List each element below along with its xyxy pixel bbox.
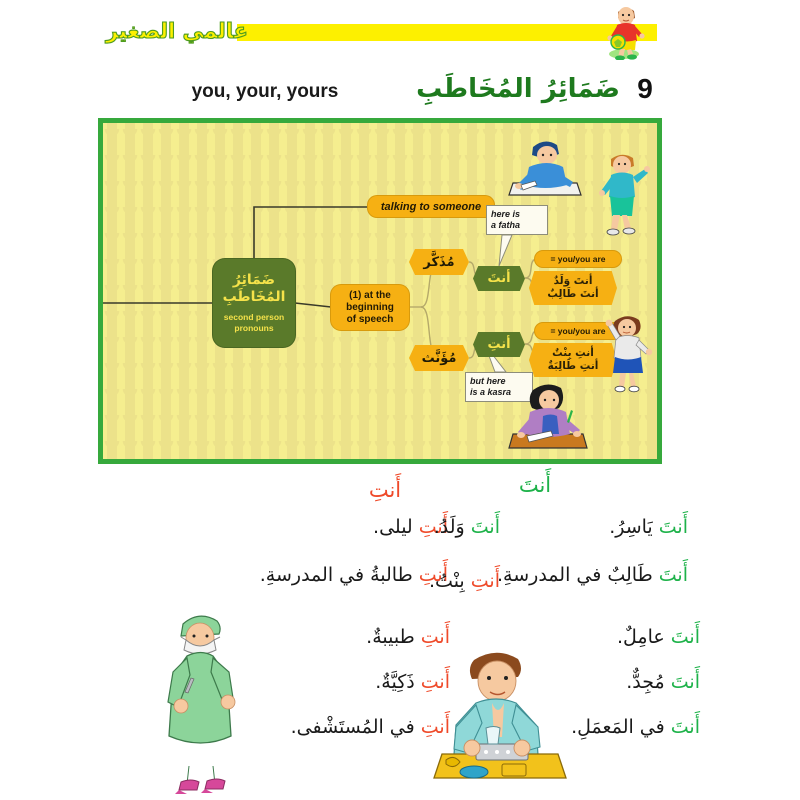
node-pronoun-anti[interactable]: أنتِ [473,332,525,357]
callout-fatha-line1: here is [491,209,520,219]
girl-waving-icon [599,311,655,399]
sentence-rest: طبيبةٌ. [366,626,421,648]
pronoun-token: أَنتَ [659,564,688,586]
pronoun-token: أَنتَ [671,626,700,648]
chapter-title-arabic: ضَمَائِرُ المُخَاطَبِ [420,68,620,110]
sentence-rest: في المَعمَلِ. [571,716,671,738]
node-pronoun-anta-label: أنتَ [487,271,510,286]
callout-fatha: here is a fatha [486,205,548,235]
label-equals-masculine: = you/you are [535,251,621,267]
sentence-row: أَنتِ في المُستَشْفى. [250,716,450,738]
example-masculine-line1: أنتَ وَلَدٌ [554,275,593,288]
node-pronoun-anta[interactable]: أنتَ [473,266,525,291]
header-yellow-band [237,24,657,41]
sentence-continuation-feminine: أَنتِ بِنْتُ. [300,570,500,592]
node-gender-masculine[interactable]: مُذَكَّر [409,249,469,275]
callout-fatha-line2: a fatha [491,220,520,230]
pronoun-heading-masculine: أَنتَ [455,473,615,497]
sentence-rest: ذَكِيَّةٌ. [375,671,421,693]
node-gender-feminine[interactable]: مُؤَنَّث [409,345,469,371]
sentence-group-feminine-lower: أَنتِ طبيبةٌ. أَنتِ ذَكِيَّةٌ. أَنتِ في … [250,626,450,761]
node-main-en-line2: pronouns [234,323,273,333]
sentence-row: أَنتِ طبيبةٌ. [250,626,450,648]
callout-kasra-line1: but here [470,376,506,386]
girl-writing-at-desk-icon [505,378,593,454]
pronoun-heading-feminine: أَنتِ [305,478,465,502]
node-main-en-line1: second person [224,312,284,322]
pronoun-token: أَنتِ [471,570,500,592]
textbook-page: عالمي الصغير 9 ضَمَائِرُ المُخَاطَبِ you… [0,0,800,800]
sentence-rest: بِنْتُ. [429,570,471,592]
sentence-rest: في المُستَشْفى. [291,716,421,738]
node-pronoun-anti-label: أنتِ [487,337,510,352]
pronoun-token: أَنتَ [671,671,700,693]
node-beginning-of-speech[interactable]: (1) at the beginning of speech [331,285,409,330]
pronoun-token: أَنتِ [421,626,450,648]
examples-masculine: أنتَ وَلَدٌ أنتَ طَالِبٌ [529,271,617,305]
female-doctor-in-green-scrubs-icon [143,606,255,796]
example-feminine-line2: أنتِ طَالِبَةٌ [548,360,599,373]
node-beginning-line1: (1) at the [349,290,391,302]
boy-soccer-player-icon [598,2,654,60]
node-gender-masculine-label: مُذَكَّر [423,255,454,270]
sentence-rest: يَاسِرُ. [609,516,659,538]
concept-map-panel: ضَمَائِرُ المُخَاطَبِ second person pron… [98,118,662,464]
node-beginning-line2: beginning [346,302,394,314]
sentence-continuation-masculine: أَنتَ وَلَدُ. [300,516,500,564]
boy-standing-icon [593,151,651,243]
pronoun-token: أَنتَ [659,516,688,538]
node-main-pronouns[interactable]: ضَمَائِرُ المُخَاطَبِ second person pron… [213,259,295,347]
sentence-row: أَنتَ عامِلٌ. [500,626,700,648]
node-main-ar-line2: المُخَاطَبِ [223,289,286,306]
brand-logo-text: عالمي الصغير [133,14,248,48]
male-lab-worker-icon [430,648,570,780]
pronoun-token: أَنتَ [671,716,700,738]
node-main-ar-line1: ضَمَائِرُ [233,272,275,289]
example-masculine-line2: أنتَ طَالِبٌ [547,288,598,301]
sentence-rest: وَلَدُ. [434,516,471,538]
sentence-rest: طَالِبٌ في المدرسةِ. [497,564,659,586]
chapter-title-english: you, your, yours [160,78,370,106]
sentence-rest: مُجِدٌّ. [626,671,671,693]
node-gender-feminine-label: مُؤَنَّث [422,351,457,366]
node-talking-to-someone[interactable]: talking to someone [368,196,494,217]
pronoun-token: أَنتَ [471,516,500,538]
chapter-number: 9 [630,72,660,106]
sentence-rest: عامِلٌ. [617,626,671,648]
node-beginning-line3: of speech [347,314,394,326]
example-feminine-line1: أنتِ بِنْتٌ [552,347,594,360]
boy-writing-at-desk-icon [503,133,587,203]
sentence-row: أَنتِ ذَكِيَّةٌ. [250,671,450,693]
